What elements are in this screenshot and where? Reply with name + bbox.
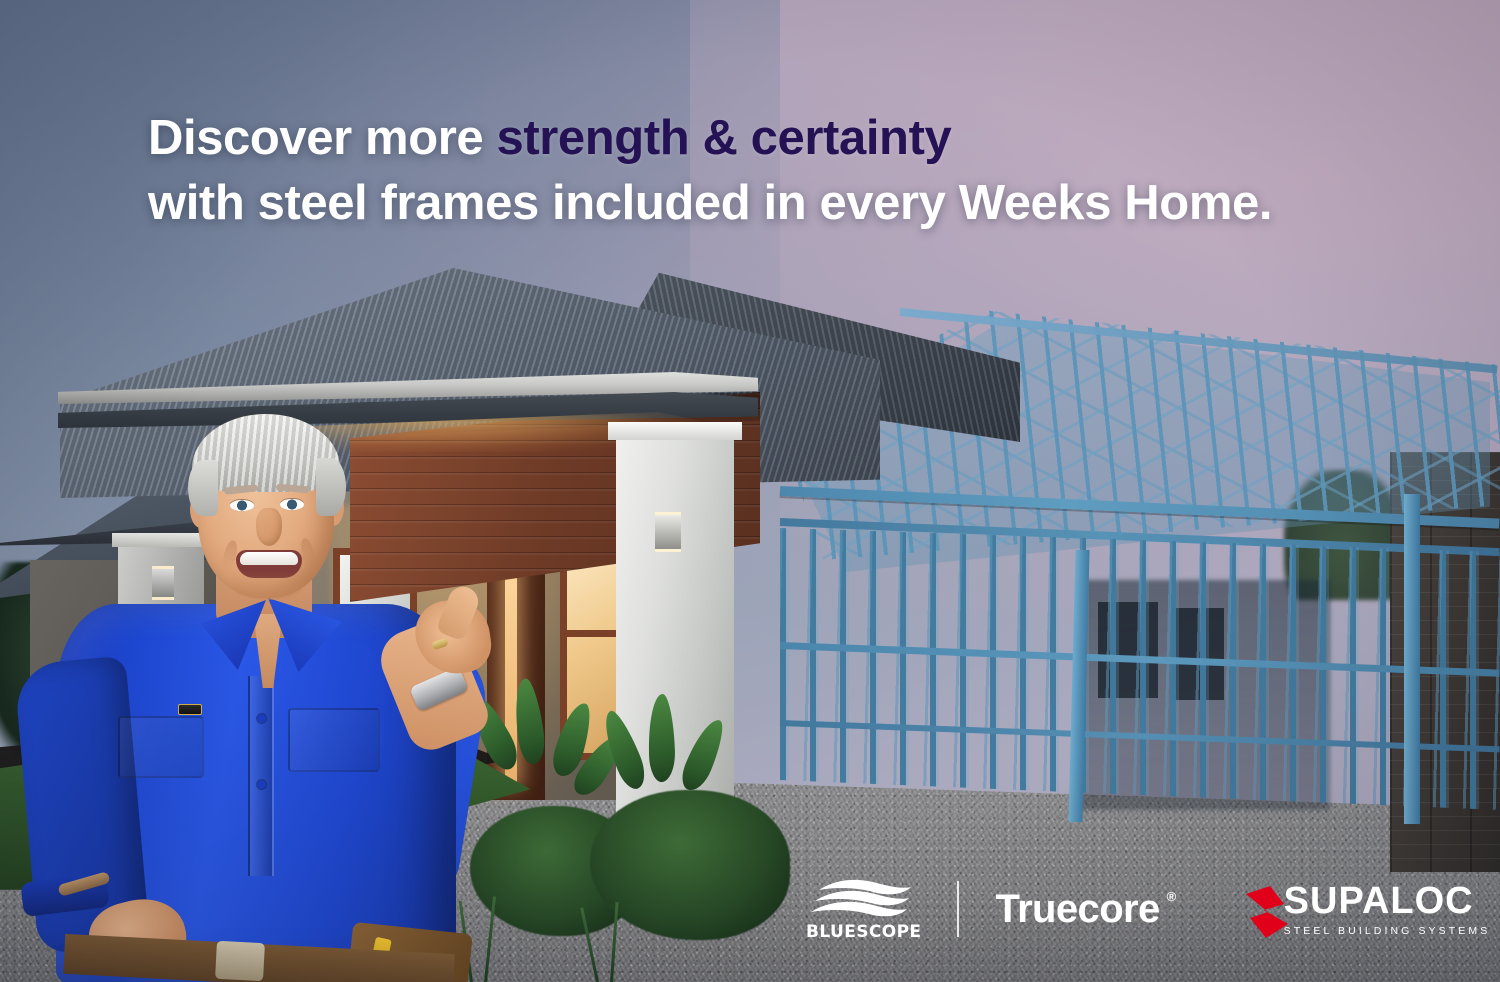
wall-light-main	[655, 512, 681, 552]
truecore-registered-icon: ®	[1167, 889, 1176, 904]
person-presenter	[20, 408, 490, 982]
shirt-button-2	[257, 780, 266, 789]
banner-image: Discover more strength & certainty with …	[0, 0, 1500, 982]
belt-buckle	[215, 941, 265, 981]
shirt-pocket-right	[288, 708, 380, 772]
main-pillar-cap	[608, 422, 742, 440]
shirt-pocket-left	[118, 716, 204, 778]
teeth	[240, 552, 298, 565]
hair-side-left	[188, 460, 218, 516]
logo-bar: BLUESCOPE Truecore® SUPALOC STEEL BUILDI…	[806, 876, 1490, 942]
headline-line-2: with steel frames included in every Week…	[148, 171, 1378, 236]
truecore-wordmark-a: Truec	[995, 887, 1099, 931]
eye-right	[280, 499, 304, 510]
shirt-brand-badge	[178, 704, 202, 715]
headline-accent: strength & certainty	[496, 111, 951, 165]
supaloc-tagline: STEEL BUILDING SYSTEMS	[1284, 925, 1491, 937]
logo-supaloc: SUPALOC STEEL BUILDING SYSTEMS	[1250, 882, 1491, 937]
shirt-placket	[248, 676, 274, 876]
bluescope-wordmark: BLUESCOPE	[806, 922, 921, 942]
truecore-o-glyph: o	[1099, 887, 1123, 932]
eye-left	[230, 500, 254, 511]
chin-shadow	[232, 570, 304, 600]
supaloc-wordmark: SUPALOC	[1284, 882, 1474, 920]
headline-lead: Discover more	[148, 111, 496, 165]
truecore-wordmark-b: re	[1123, 887, 1160, 931]
logo-truecore: Truecore®	[995, 887, 1175, 932]
nose	[256, 508, 282, 546]
frame-right-post	[1404, 494, 1420, 824]
shirt-button-1	[257, 714, 266, 723]
bluescope-waves-icon	[811, 876, 917, 918]
logo-divider	[957, 881, 959, 937]
headline: Discover more strength & certainty with …	[148, 106, 1378, 235]
headline-line-1: Discover more strength & certainty	[148, 106, 1378, 171]
hair-side-right	[316, 458, 346, 516]
logo-bluescope: BLUESCOPE	[806, 876, 921, 942]
